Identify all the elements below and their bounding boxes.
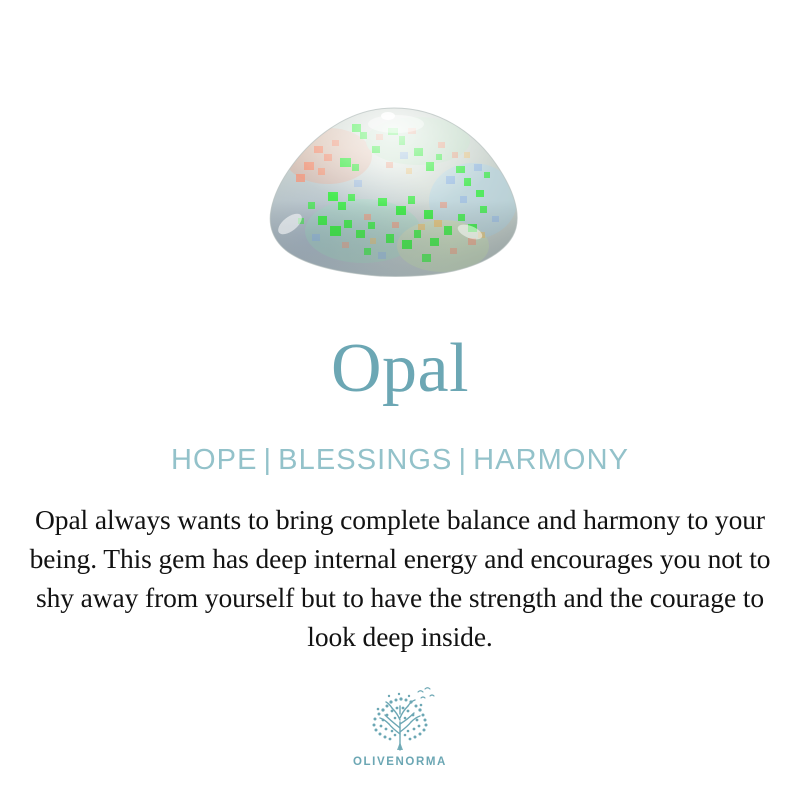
gem-highlight-top	[368, 115, 424, 133]
keyword-line: HOPE|BLESSINGS|HARMONY	[0, 443, 800, 477]
brand-name: OLIVENORMA	[353, 756, 447, 768]
keyword-harmony: HARMONY	[473, 444, 629, 476]
keyword-hope: HOPE	[171, 444, 258, 476]
gemstone-info-card: Opal HOPE|BLESSINGS|HARMONY Opal always …	[0, 0, 800, 800]
brand-logo: OLIVENORMA	[0, 684, 800, 768]
gem-highlight-spot	[381, 112, 395, 120]
tree-icon	[361, 684, 439, 754]
gem-body	[268, 106, 520, 278]
keyword-separator-2: |	[452, 444, 473, 476]
opal-cabochon-icon	[268, 106, 520, 278]
tree-trunk	[397, 742, 403, 750]
keyword-separator-1: |	[258, 444, 279, 476]
page-title: Opal	[0, 330, 800, 408]
birds-icon	[418, 688, 434, 698]
opal-gemstone-image	[268, 106, 520, 278]
description-text: Opal always wants to bring complete bala…	[18, 500, 782, 656]
keyword-blessings: BLESSINGS	[278, 444, 452, 476]
